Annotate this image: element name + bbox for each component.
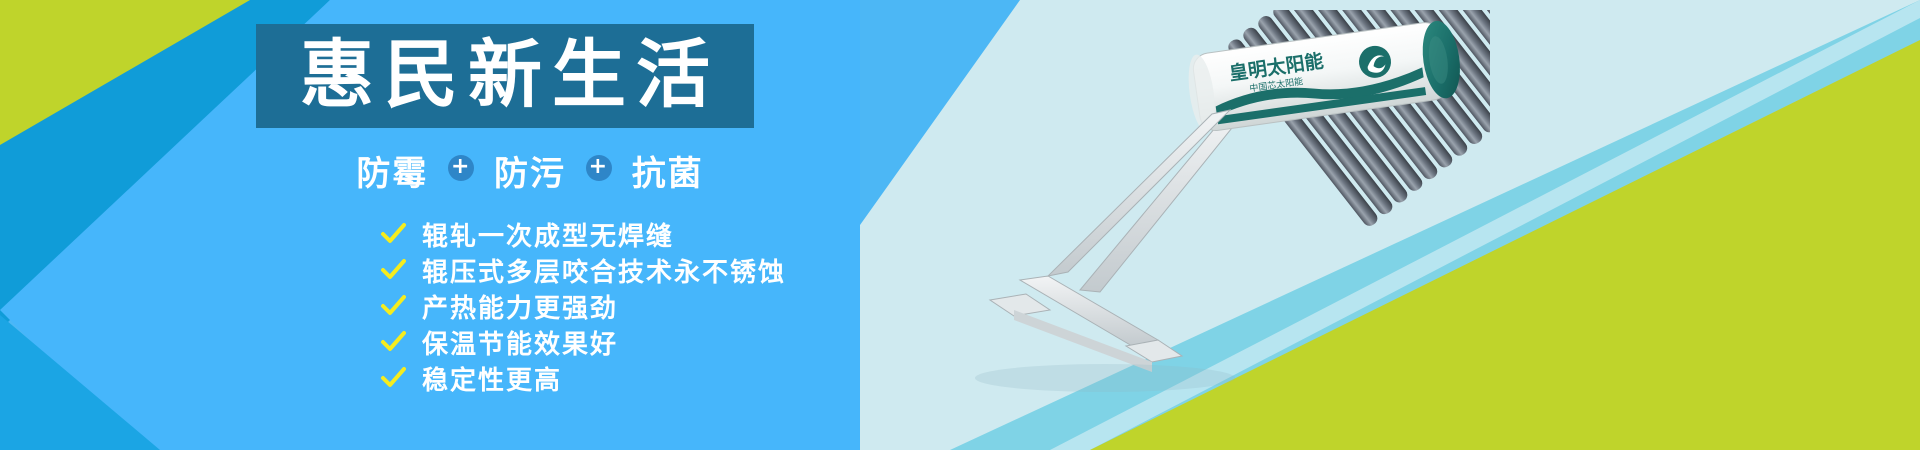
frame-front-support — [990, 110, 1230, 372]
feature-label: 产热能力更强劲 — [422, 288, 618, 325]
banner-content: 惠民新生活 防霉 + 防污 + 抗菌 辊轧一次成型无焊缝 辊压式多层咬合技术永不… — [250, 24, 870, 397]
check-icon — [380, 365, 406, 391]
feature-label: 辊压式多层咬合技术永不锈蚀 — [422, 252, 786, 289]
frame-rear-leg — [1080, 108, 1248, 292]
feature-label: 保温节能效果好 — [422, 324, 618, 361]
banner-subtitle: 防霉 + 防污 + 抗菌 — [250, 146, 810, 195]
check-icon — [380, 293, 406, 319]
feature-label: 稳定性更高 — [422, 360, 562, 397]
feature-item: 辊轧一次成型无焊缝 — [380, 217, 870, 251]
plus-badge-icon-1: + — [448, 155, 474, 181]
product-shadow — [975, 364, 1235, 392]
feature-item: 稳定性更高 — [380, 361, 870, 395]
check-icon — [380, 221, 406, 247]
check-icon — [380, 329, 406, 355]
feature-list: 辊轧一次成型无焊缝 辊压式多层咬合技术永不锈蚀 产热能力更强劲 保温节能效果好 — [380, 217, 870, 395]
banner-title: 惠民新生活 — [290, 38, 720, 112]
subtitle-word-2: 防污 — [494, 146, 566, 195]
product-image-solar-water-heater: 皇明太阳能 中国芯太阳能 — [930, 10, 1490, 440]
feature-item: 保温节能效果好 — [380, 325, 870, 359]
subtitle-word-3: 抗菌 — [632, 146, 704, 195]
solar-water-heater-illustration: 皇明太阳能 中国芯太阳能 — [930, 10, 1490, 440]
plus-badge-icon-2: + — [586, 155, 612, 181]
subtitle-word-1: 防霉 — [356, 146, 428, 195]
feature-label: 辊轧一次成型无焊缝 — [422, 216, 674, 253]
title-box: 惠民新生活 — [256, 24, 754, 128]
feature-item: 产热能力更强劲 — [380, 289, 870, 323]
feature-item: 辊压式多层咬合技术永不锈蚀 — [380, 253, 870, 287]
promo-banner: 惠民新生活 防霉 + 防污 + 抗菌 辊轧一次成型无焊缝 辊压式多层咬合技术永不… — [0, 0, 1920, 450]
check-icon — [380, 257, 406, 283]
